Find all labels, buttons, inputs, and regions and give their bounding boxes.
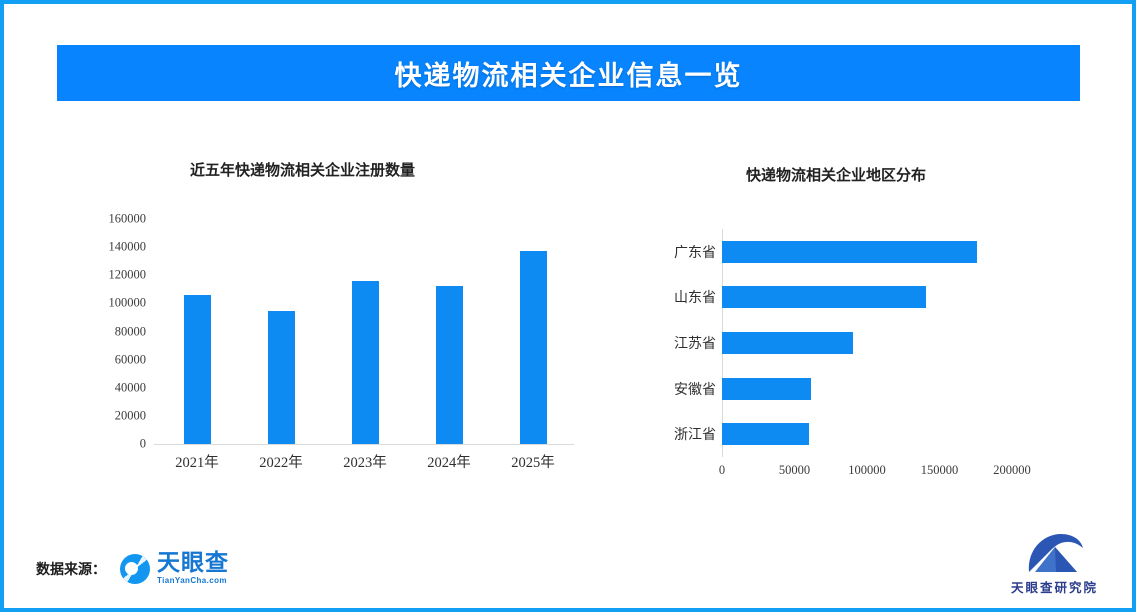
data-source-label: 数据来源： <box>36 559 106 579</box>
h-bar <box>722 286 926 308</box>
h-axis-tick-label: 100000 <box>848 463 886 478</box>
h-chart-plot-area <box>722 229 1012 457</box>
header-banner: 快递物流相关企业信息一览 <box>57 45 1080 101</box>
v-axis-tick-label: 20000 <box>115 408 146 423</box>
h-category-label: 广东省 <box>674 242 716 262</box>
h-category-label: 江苏省 <box>674 333 716 353</box>
v-category-label: 2022年 <box>259 451 303 472</box>
tianyancha-wordmark: 天眼查 TianYanCha.com <box>157 552 229 585</box>
registration-count-panel: 近五年快递物流相关企业注册数量 020000400006000080000100… <box>64 134 604 524</box>
v-category-label: 2025年 <box>511 451 555 472</box>
v-axis-tick-label: 120000 <box>109 268 147 283</box>
research-institute-name: 天眼查研究院 <box>1011 577 1098 596</box>
v-axis-tick-label: 140000 <box>109 240 147 255</box>
h-axis-tick-label: 150000 <box>921 463 959 478</box>
data-source: 数据来源： 天眼查 TianYanCha.com <box>36 552 229 585</box>
h-axis-tick-label: 200000 <box>993 463 1031 478</box>
h-category-label: 安徽省 <box>674 379 716 399</box>
h-bar <box>722 332 853 354</box>
page-title: 快递物流相关企业信息一览 <box>395 54 743 93</box>
tianyancha-name-en: TianYanCha.com <box>157 577 229 585</box>
infographic-page: 快递物流相关企业信息一览 近五年快递物流相关企业注册数量 02000040000… <box>0 0 1136 612</box>
v-axis-tick-label: 100000 <box>109 296 147 311</box>
tianyancha-logo: 天眼查 TianYanCha.com <box>120 552 229 585</box>
vertical-bar-chart: 0200004000060000800001000001200001400001… <box>64 219 604 464</box>
v-category-label: 2023年 <box>343 451 387 472</box>
tianyancha-name-cn: 天眼查 <box>157 552 229 575</box>
research-institute-brand: 天眼查研究院 <box>1011 532 1098 596</box>
h-category-label: 浙江省 <box>674 424 716 444</box>
v-chart-baseline <box>154 444 574 445</box>
v-axis-tick-label: 80000 <box>115 324 146 339</box>
v-axis-tick-label: 60000 <box>115 352 146 367</box>
left-chart-title: 近五年快递物流相关企业注册数量 <box>190 159 415 180</box>
h-axis-tick-label: 0 <box>719 463 725 478</box>
region-distribution-panel: 快递物流相关企业地区分布 广东省山东省江苏省安徽省浙江省 05000010000… <box>624 134 1084 524</box>
v-bar <box>352 281 379 444</box>
h-category-label: 山东省 <box>674 287 716 307</box>
h-bar <box>722 241 977 263</box>
v-category-labels: 2021年2022年2023年2024年2025年 <box>154 451 574 481</box>
h-bar <box>722 378 811 400</box>
horizontal-bar-chart: 广东省山东省江苏省安徽省浙江省 050000100000150000200000 <box>624 229 1084 499</box>
v-axis-tick-label: 40000 <box>115 380 146 395</box>
v-bar <box>184 295 211 444</box>
v-bar <box>436 286 463 444</box>
h-bar <box>722 423 809 445</box>
v-bar <box>268 311 295 444</box>
v-category-label: 2024年 <box>427 451 471 472</box>
v-axis-tick-label: 0 <box>140 437 146 452</box>
v-bar <box>520 251 547 444</box>
v-category-label: 2021年 <box>175 451 219 472</box>
v-axis-tick-labels: 0200004000060000800001000001200001400001… <box>64 219 146 444</box>
tianyancha-eye-icon <box>120 554 150 584</box>
h-axis-tick-label: 50000 <box>779 463 810 478</box>
h-axis-tick-labels: 050000100000150000200000 <box>722 463 1022 487</box>
mountain-arc-icon <box>1023 532 1085 574</box>
right-chart-title: 快递物流相关企业地区分布 <box>746 164 926 185</box>
v-chart-plot-area <box>154 219 574 444</box>
h-category-labels: 广东省山东省江苏省安徽省浙江省 <box>624 229 716 457</box>
v-axis-tick-label: 160000 <box>109 212 147 227</box>
